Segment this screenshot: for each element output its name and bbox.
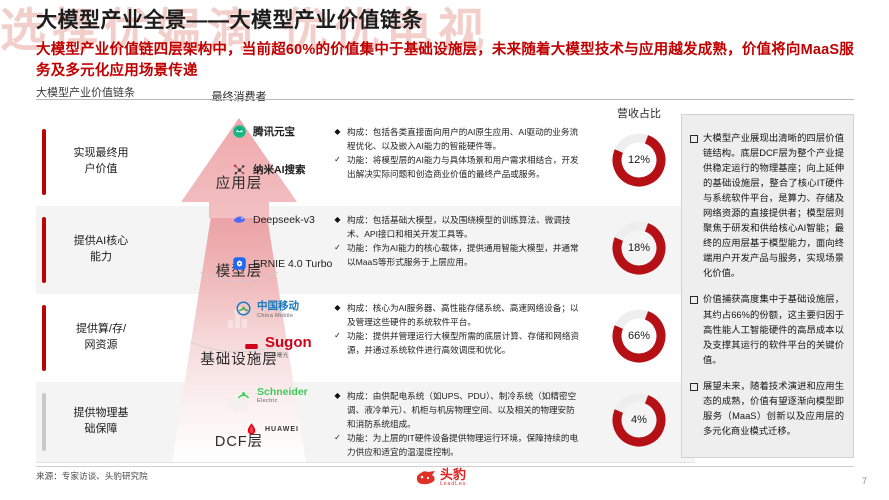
brand-sub: LeadLeo xyxy=(440,481,466,487)
ernie-logo xyxy=(232,256,247,271)
check-bullet-icon: ✓ xyxy=(333,330,342,343)
value-label-row: 提供算/存/网资源 xyxy=(36,294,154,382)
insights-panel-wrap: 大模型产业展现出清晰的四层价值链结构。底层DCF层为整个产业提供稳定运行的物理基… xyxy=(681,114,854,458)
brand-name: 头豹 xyxy=(440,468,466,481)
vendor-logo-name: Sugon中科曙光 xyxy=(265,334,312,359)
insight-item: 大模型产业展现出清晰的四层价值链结构。底层DCF层为整个产业提供稳定运行的物理基… xyxy=(690,131,844,281)
revenue-share-donut: 66% xyxy=(609,306,669,366)
insight-text: 价值捕获高度集中于基础设施层，其约占66%的份额，这主要归因于高性能人工智能硬件… xyxy=(703,292,844,367)
value-label-row: 提供AI核心能力 xyxy=(36,206,154,294)
diamond-bullet-icon: ◆ xyxy=(333,302,342,315)
vendor-logo-item: 腾讯元宝 xyxy=(232,124,295,139)
revenue-share-column: 营收占比 12%18%66%4% xyxy=(583,100,695,462)
vendor-logo-item: ERNIE 4.0 Turbo xyxy=(232,256,332,271)
vendor-logo-name: 纳米AI搜索 xyxy=(253,162,306,177)
description-line: ◆构成：包括各类直接面向用户的AI原生应用、AI驱动的业务流程优化、以及嵌入AI… xyxy=(333,126,583,154)
value-label-text: 提供AI核心能力 xyxy=(55,234,147,266)
revenue-share-value: 66% xyxy=(609,306,669,366)
revenue-share-donut: 18% xyxy=(609,218,669,278)
nami-ai-search-logo xyxy=(232,162,247,177)
layer-description-block: ◆构成：包括基础大模型，以及围绕模型的训练算法、微调技术、API接口和相关开发工… xyxy=(333,214,583,270)
description-text: 构成：包括基础大模型，以及围绕模型的训练算法、微调技术、API接口和相关开发工具… xyxy=(347,214,583,242)
revenue-share-value: 18% xyxy=(609,218,669,278)
revenue-share-donut: 12% xyxy=(609,130,669,190)
description-text: 功能：提供并管理运行大模型所需的底层计算、存储和网络资源，并通过系统软件进行高效… xyxy=(347,330,583,358)
value-label-text: 实现最终用户价值 xyxy=(55,146,147,178)
vendor-logo-name: HUAWEI xyxy=(265,426,299,433)
layer-description-block: ◆构成：核心为AI服务器、高性能存储系统、高速网络设备；以及管理这些硬件的系统软… xyxy=(333,302,583,358)
value-label-text: 提供算/存/网资源 xyxy=(55,322,147,354)
check-bullet-icon: ✓ xyxy=(333,154,342,167)
vendor-logo-item: Deepseek-v3 xyxy=(232,212,315,227)
page-title: 大模型产业全景——大模型产业价值链条 xyxy=(36,8,866,34)
tencent-yuanbao-logo xyxy=(232,124,247,139)
leadleo-logo: 头豹 LeadLeo xyxy=(415,468,466,487)
square-bullet-icon xyxy=(690,383,698,391)
description-text: 功能：将模型层的AI能力与具体场景和用户需求相结合，开发出解决实际问题和创造商业… xyxy=(347,154,583,182)
insight-text: 展望未来，随着技术演进和应用生态的成熟，价值有望逐渐向模型即服务（MaaS）创新… xyxy=(703,379,844,439)
vendor-logo-name: SchneiderElectric xyxy=(257,386,308,404)
huawei-logo xyxy=(244,422,259,437)
vendor-logo-item: Sugon中科曙光 xyxy=(244,334,312,359)
vendor-logo-item: 中国移动China Mobile xyxy=(236,298,299,319)
revenue-share-donut: 4% xyxy=(609,390,669,450)
page-subtitle: 大模型产业价值链四层架构中，当前超60%的价值集中于基础设施层，未来随着大模型技… xyxy=(36,40,866,82)
description-line: ◆构成：由供配电系统（如UPS、PDU）、制冷系统（如精密空调、液冷单元）、机柜… xyxy=(333,390,583,432)
check-bullet-icon: ✓ xyxy=(333,242,342,255)
check-bullet-icon: ✓ xyxy=(333,432,342,445)
description-line: ✓功能：将模型层的AI能力与具体场景和用户需求相结合，开发出解决实际问题和创造商… xyxy=(333,154,583,182)
diamond-bullet-icon: ◆ xyxy=(333,126,342,139)
page-number: 7 xyxy=(862,476,867,486)
chart-label: 大模型产业价值链条 xyxy=(36,84,135,100)
value-label-column: 实现最终用户价值提供AI核心能力提供算/存/网资源提供物理基础保障 xyxy=(36,118,154,462)
layer-description-block: ◆构成：包括各类直接面向用户的AI原生应用、AI驱动的业务流程优化、以及嵌入AI… xyxy=(333,126,583,182)
square-bullet-icon xyxy=(690,296,698,304)
schneider-electric-logo xyxy=(236,388,251,403)
value-label-row: 实现最终用户价值 xyxy=(36,118,154,206)
insight-text: 大模型产业展现出清晰的四层价值链结构。底层DCF层为整个产业提供稳定运行的物理基… xyxy=(703,131,844,281)
layer-description-column: ◆构成：包括各类直接面向用户的AI原生应用、AI驱动的业务流程优化、以及嵌入AI… xyxy=(333,118,583,462)
revenue-share-value: 12% xyxy=(609,130,669,190)
vendor-logo-name: Deepseek-v3 xyxy=(253,214,315,226)
vendor-logo-item: 纳米AI搜索 xyxy=(232,162,306,177)
description-text: 功能：为上层的IT硬件设备提供物理运行环境，保障持续的电力供应和适宜的温湿度控制… xyxy=(347,432,583,460)
insight-item: 展望未来，随着技术演进和应用生态的成熟，价值有望逐渐向模型即服务（MaaS）创新… xyxy=(690,379,844,439)
diamond-bullet-icon: ◆ xyxy=(333,214,342,227)
description-text: 功能：作为AI能力的核心载体，提供通用智能大模型，并通常以MaaS等形式服务于上… xyxy=(347,242,583,270)
description-line: ✓功能：作为AI能力的核心载体，提供通用智能大模型，并通常以MaaS等形式服务于… xyxy=(333,242,583,270)
value-label-text: 提供物理基础保障 xyxy=(55,406,147,438)
china-mobile-logo xyxy=(236,301,251,316)
value-label-row: 提供物理基础保障 xyxy=(36,382,154,462)
sugon-logo xyxy=(244,339,259,354)
top-consumer-label: 最终消费者 xyxy=(154,88,324,104)
row-separator xyxy=(36,462,695,463)
source-note: 来源：专家访谈、头豹研究院 xyxy=(36,470,148,482)
layer-description-block: ◆构成：由供配电系统（如UPS、PDU）、制冷系统（如精密空调、液冷单元）、机柜… xyxy=(333,390,583,460)
description-line: ✓功能：提供并管理运行大模型所需的底层计算、存储和网络资源，并通过系统软件进行高… xyxy=(333,330,583,358)
insights-panel: 大模型产业展现出清晰的四层价值链结构。底层DCF层为整个产业提供稳定运行的物理基… xyxy=(681,114,854,458)
insight-item: 价值捕获高度集中于基础设施层，其约占66%的份额，这主要归因于高性能人工智能硬件… xyxy=(690,292,844,367)
value-accent-bar xyxy=(42,393,46,451)
value-accent-bar xyxy=(42,217,46,283)
square-bullet-icon xyxy=(690,135,698,143)
header-divider xyxy=(36,99,854,100)
vendor-logo-item: SchneiderElectric xyxy=(236,386,308,404)
vendor-logo-name: ERNIE 4.0 Turbo xyxy=(253,258,332,270)
description-line: ✓功能：为上层的IT硬件设备提供物理运行环境，保障持续的电力供应和适宜的温湿度控… xyxy=(333,432,583,460)
vendor-logo-name: 中国移动China Mobile xyxy=(257,298,299,319)
description-text: 构成：由供配电系统（如UPS、PDU）、制冷系统（如精密空调、液冷单元）、机柜与… xyxy=(347,390,583,432)
description-text: 构成：核心为AI服务器、高性能存储系统、高速网络设备；以及管理这些硬件的系统软件… xyxy=(347,302,583,330)
leopard-icon xyxy=(415,469,437,486)
revenue-share-value: 4% xyxy=(609,390,669,450)
description-line: ◆构成：核心为AI服务器、高性能存储系统、高速网络设备；以及管理这些硬件的系统软… xyxy=(333,302,583,330)
slide-header: 大模型产业全景——大模型产业价值链条 大模型产业价值链四层架构中，当前超60%的… xyxy=(36,8,866,82)
revenue-share-header: 营收占比 xyxy=(583,105,695,121)
value-chain-diagram: 实现最终用户价值提供AI核心能力提供算/存/网资源提供物理基础保障 最终消费者 xyxy=(36,100,854,462)
vendor-logo-name: 腾讯元宝 xyxy=(253,124,295,139)
value-accent-bar xyxy=(42,129,46,195)
description-text: 构成：包括各类直接面向用户的AI原生应用、AI驱动的业务流程优化、以及嵌入AI能… xyxy=(347,126,583,154)
value-accent-bar xyxy=(42,305,46,371)
diamond-bullet-icon: ◆ xyxy=(333,390,342,403)
deepseek-logo xyxy=(232,212,247,227)
description-line: ◆构成：包括基础大模型，以及围绕模型的训练算法、微调技术、API接口和相关开发工… xyxy=(333,214,583,242)
vendor-logo-item: HUAWEI xyxy=(244,422,299,437)
